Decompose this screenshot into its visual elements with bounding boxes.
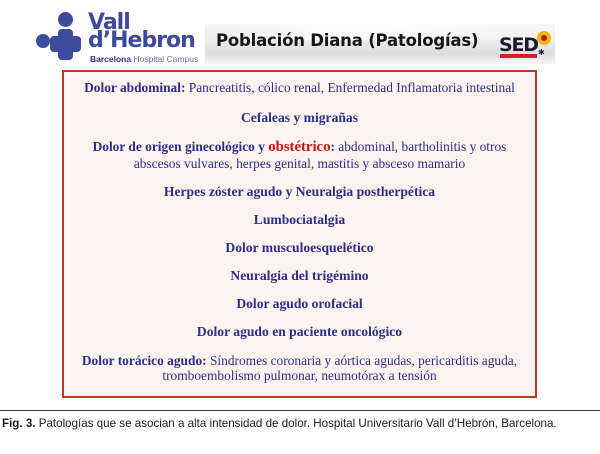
medical-cross-icon	[36, 12, 90, 60]
figure-caption-text: Patologías que se asocian a alta intensi…	[36, 417, 557, 430]
item-bold-label: Dolor de origen ginecológico y	[93, 139, 269, 154]
caption-divider	[0, 410, 600, 411]
sed-logo-underline	[500, 54, 537, 58]
item-bold-label: Dolor torácico agudo:	[82, 353, 207, 368]
cross-horizontal-bar	[50, 36, 81, 52]
list-item: Dolor musculoesquelético	[73, 228, 526, 256]
item-highlight-text: obstétrico	[268, 139, 330, 155]
logo-word-hebron: d’Hebron	[88, 30, 195, 52]
page-title: Población Diana (Patologías)	[216, 31, 486, 50]
list-item: Dolor agudo orofacial	[73, 284, 526, 312]
item-bold-label: Dolor musculoesquelético	[225, 240, 373, 255]
item-detail-text: Síndromes coronaria y aórtica agudas, pe…	[162, 353, 517, 384]
item-bold-label: Cefaleas y migrañas	[241, 110, 358, 125]
sed-runner-icon: ✱	[538, 49, 545, 57]
pathologies-box: Dolor abdominal: Pancreatitis, cólico re…	[62, 70, 537, 398]
slide-header: Vall d’Hebron Barcelona Hospital Campus …	[0, 0, 600, 72]
logo-subtitle: Barcelona Hospital Campus	[90, 55, 198, 64]
figure-caption: Fig. 3. Patologías que se asocian a alta…	[2, 416, 598, 432]
item-bold-label: Dolor agudo en paciente oncológico	[197, 324, 402, 339]
list-item: Neuralgia del trigémino	[73, 256, 526, 284]
item-detail-text: Pancreatitis, cólico renal, Enfermedad I…	[185, 80, 514, 95]
list-item: Dolor de origen ginecológico y obstétric…	[73, 126, 526, 172]
logo-subtitle-normal: Hospital Campus	[131, 54, 198, 64]
list-item: Cefaleas y migrañas	[73, 96, 526, 126]
logo-dot-left	[36, 34, 50, 48]
logo-dot-top	[58, 12, 73, 27]
item-bold-label: Neuralgia del trigémino	[230, 268, 368, 283]
list-item: Herpes zóster agudo y Neuralgia postherp…	[73, 171, 526, 200]
item-bold-label: Lumbociatalgia	[254, 212, 345, 227]
item-bold-label: Herpes zóster agudo y Neuralgia postherp…	[164, 184, 435, 199]
logo-subtitle-bold: Barcelona	[90, 54, 131, 64]
sed-logo: SED ✱	[499, 31, 555, 63]
sed-target-center-icon	[541, 35, 547, 41]
list-item: Lumbociatalgia	[73, 200, 526, 228]
list-item: Dolor agudo en paciente oncológico	[73, 312, 526, 340]
sed-logo-text: SED	[499, 36, 538, 55]
item-bold-label: Dolor abdominal:	[84, 80, 185, 95]
list-item: Dolor torácico agudo: Síndromes coronari…	[73, 340, 526, 384]
item-bold-label: Dolor agudo orofacial	[236, 296, 362, 311]
figure-label: Fig. 3.	[2, 417, 36, 430]
vall-hebron-logo: Vall d’Hebron Barcelona Hospital Campus	[36, 8, 216, 66]
slide-figure: Vall d’Hebron Barcelona Hospital Campus …	[0, 0, 600, 408]
list-item: Dolor abdominal: Pancreatitis, cólico re…	[73, 79, 526, 96]
